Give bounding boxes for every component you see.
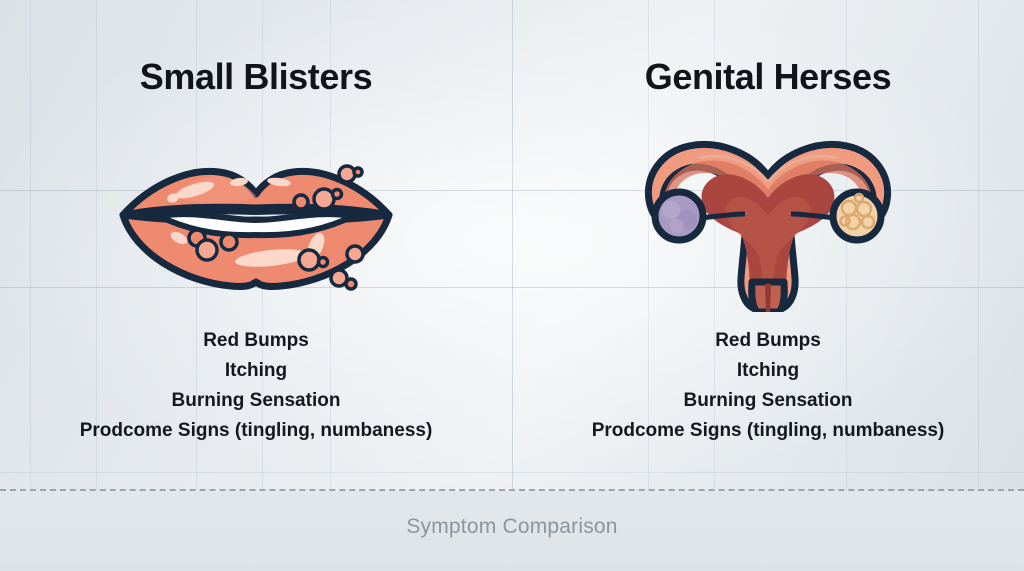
- symptom-item: Prodcome Signs (tingling, numbaness): [0, 416, 512, 446]
- infographic-canvas: Small Blisters: [0, 0, 1024, 571]
- panel-genital-herpes: Genital Herses: [512, 0, 1024, 490]
- symptom-item: Red Bumps: [0, 326, 512, 356]
- lips-with-blisters-illustration: [0, 132, 512, 312]
- ovary-left: [655, 192, 703, 240]
- footer-divider: [0, 489, 1024, 491]
- panel-small-blisters: Small Blisters: [0, 0, 512, 490]
- symptom-item: Red Bumps: [512, 326, 1024, 356]
- cervical-os: [765, 284, 771, 312]
- panel-title-right: Genital Herses: [512, 56, 1024, 98]
- symptom-item: Burning Sensation: [0, 386, 512, 416]
- symptom-item: Prodcome Signs (tingling, numbaness): [512, 416, 1024, 446]
- footer-caption: Symptom Comparison: [0, 515, 1024, 539]
- ovary-right: [833, 192, 881, 240]
- symptom-item: Itching: [0, 356, 512, 386]
- lips-svg: [111, 132, 401, 302]
- symptom-item: Itching: [512, 356, 1024, 386]
- symptom-list-right: Red Bumps Itching Burning Sensation Prod…: [512, 326, 1024, 446]
- panel-title-left: Small Blisters: [0, 56, 512, 98]
- uterus-anatomy-illustration: [512, 132, 1024, 312]
- uterus-svg: [623, 132, 913, 312]
- symptom-item: Burning Sensation: [512, 386, 1024, 416]
- symptom-list-left: Red Bumps Itching Burning Sensation Prod…: [0, 326, 512, 446]
